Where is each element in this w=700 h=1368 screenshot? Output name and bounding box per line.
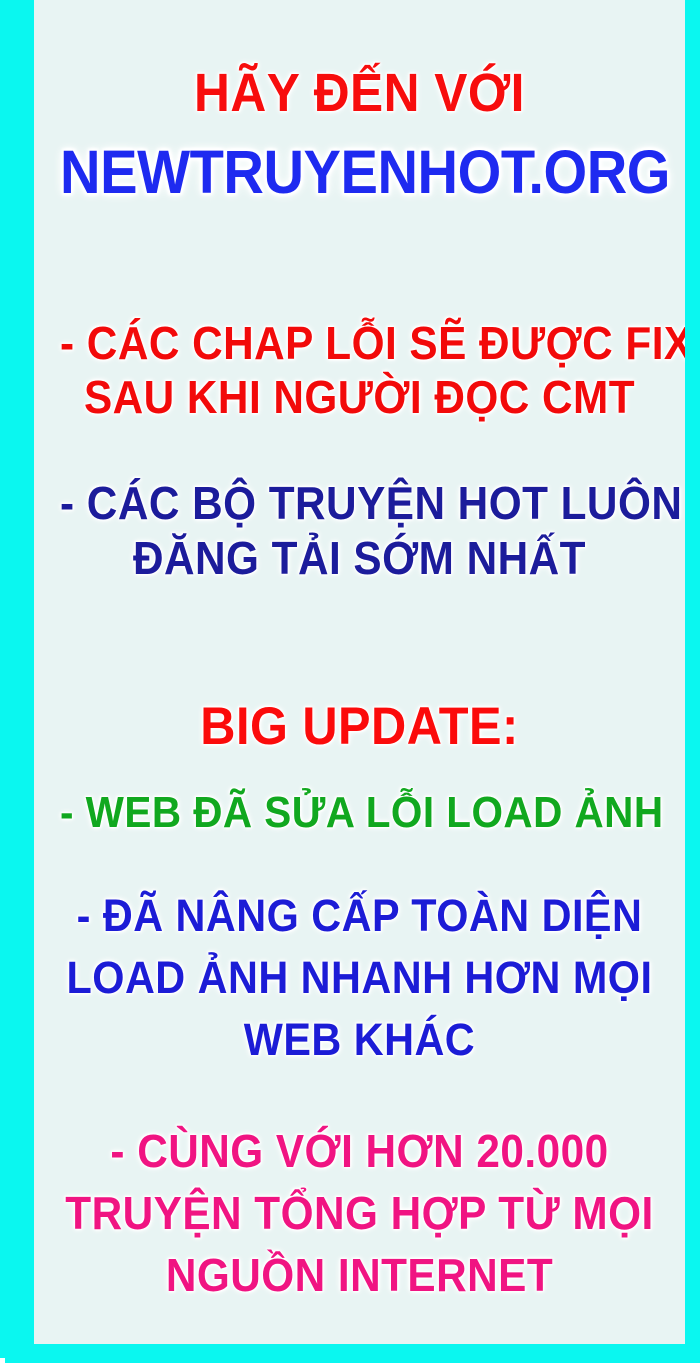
big-update-heading: BIG UPDATE:: [60, 700, 659, 753]
site-domain-headline[interactable]: NEWTRUYENHOT.ORG: [60, 142, 659, 203]
library-size-line-1: - CÙNG VỚI HƠN 20.000: [60, 1128, 659, 1174]
image-load-fix-line-1: - WEB ĐÃ SỬA LỖI LOAD ẢNH: [60, 791, 659, 835]
fix-notice-line-1: - CÁC CHAP LỖI SẼ ĐƯỢC FIX: [60, 320, 659, 366]
library-size-line-3: NGUỒN INTERNET: [60, 1252, 659, 1298]
bottom-white-strip: [0, 1363, 700, 1368]
fix-notice-line-2: SAU KHI NGƯỜI ĐỌC CMT: [60, 374, 659, 420]
headline-line-1: HÃY ĐẾN VỚI: [60, 66, 659, 120]
poster-panel: HÃY ĐẾN VỚI NEWTRUYENHOT.ORG - CÁC CHAP …: [34, 0, 685, 1344]
hot-series-notice-line-1: - CÁC BỘ TRUYỆN HOT LUÔN: [60, 480, 659, 526]
library-size-line-2: TRUYỆN TỔNG HỢP TỪ MỌI: [60, 1190, 659, 1236]
hot-series-notice-line-2: ĐĂNG TẢI SỚM NHẤT: [60, 535, 659, 581]
full-upgrade-line-3: WEB KHÁC: [60, 1017, 659, 1062]
full-upgrade-line-2: LOAD ẢNH NHANH HƠN MỌI: [60, 955, 659, 1000]
full-upgrade-line-1: - ĐÃ NÂNG CẤP TOÀN DIỆN: [60, 893, 659, 938]
promo-poster: HÃY ĐẾN VỚI NEWTRUYENHOT.ORG - CÁC CHAP …: [0, 0, 700, 1368]
